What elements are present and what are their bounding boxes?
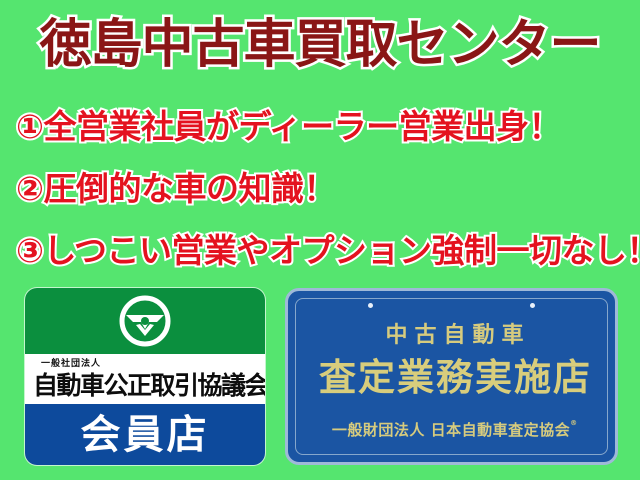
certification-badges: 一般社団法人 自動車公正取引協議会 会員店 中古自動車 査定業務実施店 一般財団… <box>0 288 640 468</box>
plate-bolt-right-icon <box>530 303 535 308</box>
selling-points-list: ①全営業社員がディーラー営業出身！ ②圧倒的な車の知識！ ③しつこい営業やオプシ… <box>16 96 640 282</box>
registered-mark-icon: ® <box>570 419 577 427</box>
selling-point-2: ②圧倒的な車の知識！ <box>16 158 640 220</box>
plate-organization: 一般財団法人 日本自動車査定協会® <box>288 419 618 440</box>
plate-bolt-left-icon <box>368 303 373 308</box>
badge-name-panel: 一般社団法人 自動車公正取引協議会 <box>25 354 265 404</box>
page-title: 徳島中古車買取センター <box>0 14 640 76</box>
selling-point-1: ①全営業社員がディーラー営業出身！ <box>16 96 640 158</box>
advertisement-poster: 徳島中古車買取センター ①全営業社員がディーラー営業出身！ ②圧倒的な車の知識！… <box>0 0 640 480</box>
plate-title: 査定業務実施店 <box>288 357 618 399</box>
badge-organization-name: 自動車公正取引協議会 <box>33 366 257 402</box>
fair-trade-council-badge: 一般社団法人 自動車公正取引協議会 会員店 <box>25 288 265 465</box>
badge-member-label: 会員店 <box>81 413 210 457</box>
appraisal-plate-badge: 中古自動車 査定業務実施店 一般財団法人 日本自動車査定協会® <box>285 288 618 465</box>
selling-point-3: ③しつこい営業やオプション強制一切なし！ <box>16 220 640 282</box>
badge-member-panel: 会員店 <box>25 404 265 465</box>
plate-subtitle: 中古自動車 <box>288 317 618 349</box>
plate-organization-text: 一般財団法人 日本自動車査定協会 <box>332 421 570 439</box>
badge-logo-panel <box>25 288 265 354</box>
steering-wheel-handshake-icon <box>117 295 173 351</box>
